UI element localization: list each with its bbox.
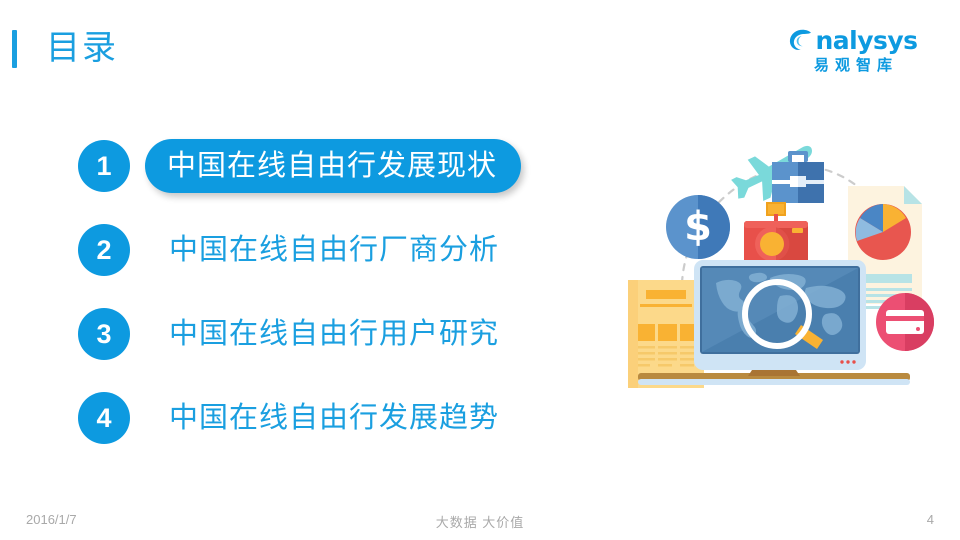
- slide-header: 目录 nalysys 易观智库: [0, 0, 960, 100]
- agenda-number-4: 4: [78, 392, 130, 444]
- slide-canvas: 目录 nalysys 易观智库 1 中国在线自由行发展现状 2 中国在线自由行厂…: [0, 0, 960, 540]
- analysys-logo: nalysys 易观智库: [778, 26, 928, 78]
- agenda-item-3[interactable]: 3 中国在线自由行用户研究: [78, 308, 598, 392]
- dollar-coin-icon: $: [666, 195, 730, 259]
- agenda-item-1[interactable]: 1 中国在线自由行发展现状: [78, 140, 598, 224]
- briefcase-icon: [772, 151, 824, 203]
- footer-tagline: 大数据 大价值: [0, 512, 960, 531]
- agenda-item-4[interactable]: 4 中国在线自由行发展趋势: [78, 392, 598, 476]
- footer-page-number: 4: [927, 512, 934, 527]
- monitor-world-map-magnifier: [694, 260, 866, 376]
- agenda-number-1: 1: [78, 140, 130, 192]
- logo-chinese-text: 易观智库: [778, 57, 928, 75]
- agenda-label-3: 中国在线自由行用户研究: [169, 313, 499, 355]
- title-accent-bar: [12, 30, 17, 68]
- analysys-swirl-icon: [788, 28, 814, 54]
- agenda-label-4: 中国在线自由行发展趋势: [169, 397, 499, 439]
- pie-chart: [855, 204, 911, 260]
- logo-wordmark-text: nalysys: [815, 28, 917, 54]
- agenda-number-2: 2: [78, 224, 130, 276]
- newspaper-icon: [628, 280, 704, 388]
- agenda-item-2[interactable]: 2 中国在线自由行厂商分析: [78, 224, 598, 308]
- svg-text:$: $: [684, 204, 712, 250]
- online-travel-research-illustration: $: [620, 128, 950, 400]
- agenda-number-3: 3: [78, 308, 130, 360]
- agenda-label-2: 中国在线自由行厂商分析: [169, 229, 499, 271]
- slide-footer: 2016/1/7 大数据 大价值 4: [0, 500, 960, 540]
- logo-wordmark-row: nalysys: [778, 26, 928, 56]
- credit-card-icon: [876, 293, 934, 351]
- agenda-list: 1 中国在线自由行发展现状 2 中国在线自由行厂商分析 3 中国在线自由行用户研…: [78, 140, 598, 476]
- page-title: 目录: [46, 26, 118, 70]
- agenda-active-pill[interactable]: 中国在线自由行发展现状: [145, 139, 521, 193]
- camera-icon: [744, 202, 808, 265]
- status-dots: [840, 360, 855, 363]
- agenda-label-1: 中国在线自由行发展现状: [167, 145, 497, 187]
